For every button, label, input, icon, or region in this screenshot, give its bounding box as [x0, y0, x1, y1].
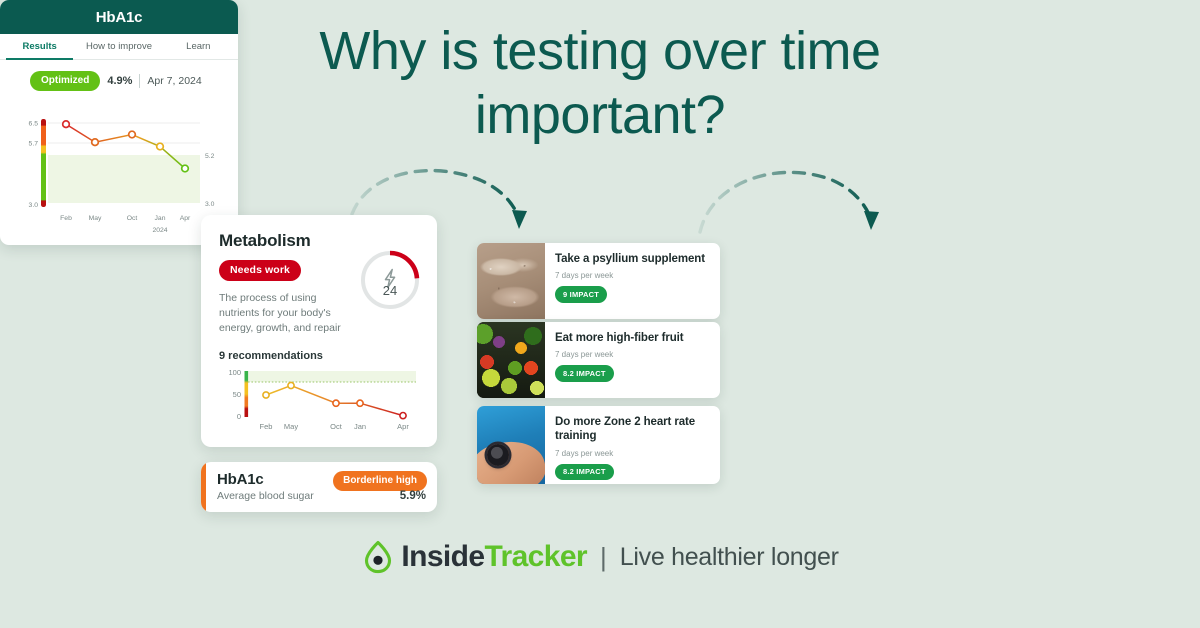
- hba1c-xtick-3: Jan: [155, 215, 166, 222]
- metabolism-title: Metabolism: [219, 231, 419, 251]
- panel-tab-bar[interactable]: Results How to improve Learn: [0, 34, 238, 60]
- hba1c-ytick-left-3-0: 3.0: [29, 202, 39, 209]
- metabolism-score-value: 24: [359, 283, 421, 298]
- hba1c-xtick-2: Oct: [127, 215, 138, 222]
- status-badge-borderline-high: Borderline high: [333, 471, 427, 491]
- recommendation-title: Do more Zone 2 heart rate training: [555, 415, 712, 444]
- hba1c-trend-chart: 6.5 5.7 3.0 5.2 3.0 Feb May Oct Jan Apr …: [8, 105, 230, 237]
- hba1c-summary-subtitle: Average blood sugar: [217, 490, 425, 502]
- hba1c-ytick-right-5-2: 5.2: [205, 153, 215, 160]
- recommendation-card[interactable]: Do more Zone 2 heart rate training 7 day…: [477, 406, 720, 484]
- recommendation-title: Eat more high-fiber fruit: [555, 331, 712, 345]
- impact-badge: 8.2 IMPACT: [555, 464, 614, 481]
- recommendation-title: Take a psyllium supplement: [555, 252, 712, 266]
- impact-badge: 9 IMPACT: [555, 286, 607, 303]
- logo-text-inside: Inside: [401, 540, 484, 574]
- logo-divider: |: [600, 542, 607, 573]
- tab-learn[interactable]: Learn: [159, 34, 238, 59]
- tab-learn-label: Learn: [186, 41, 210, 52]
- arrow-recommendations-to-hba1c: [700, 172, 879, 232]
- hba1c-summary-value: 5.9%: [400, 490, 426, 502]
- tab-how-to-improve-label: How to improve: [86, 41, 152, 52]
- hba1c-xtick-0: Feb: [60, 215, 72, 222]
- metab-ytick-0: 0: [237, 412, 241, 421]
- hba1c-ytick-left-6-5: 6.5: [29, 121, 39, 128]
- hba1c-xtick-1: May: [89, 215, 102, 222]
- tab-results-label: Results: [23, 41, 57, 52]
- metab-xtick-2: Oct: [330, 422, 343, 431]
- metabolism-card[interactable]: Metabolism Needs work The process of usi…: [201, 215, 437, 447]
- metab-ytick-100: 100: [228, 368, 241, 377]
- logo-text-tracker: Tracker: [484, 540, 587, 574]
- tab-results[interactable]: Results: [0, 34, 79, 59]
- poster-canvas: Why is testing over time important?: [0, 0, 1200, 628]
- metab-xtick-4: Apr: [397, 422, 409, 431]
- headline-line-1: Why is testing over time: [319, 21, 880, 81]
- metab-xtick-0: Feb: [260, 422, 273, 431]
- psyllium-bowl-image: [477, 243, 545, 319]
- brand-footer: Inside Tracker | Live healthier longer: [0, 540, 1200, 574]
- metabolism-description: The process of using nutrients for your …: [219, 291, 344, 337]
- metabolism-score-gauge: [359, 249, 421, 311]
- tab-how-to-improve[interactable]: How to improve: [79, 34, 158, 59]
- impact-badge: 8.2 IMPACT: [555, 365, 614, 382]
- hba1c-summary-card[interactable]: HbA1c Average blood sugar Borderline hig…: [201, 462, 437, 512]
- metabolism-trend-chart: 100 50 0 Feb May Oct Jan Apr: [219, 367, 419, 439]
- hba1c-ytick-left-5-7: 5.7: [29, 141, 39, 148]
- metabolism-recommendations-count[interactable]: 9 recommendations: [219, 350, 419, 362]
- metab-xtick-1: May: [284, 422, 298, 431]
- vegetables-image: [477, 322, 545, 398]
- brand-tagline: Live healthier longer: [620, 543, 839, 572]
- status-badge-needs-work: Needs work: [219, 260, 301, 281]
- recommendation-card[interactable]: Take a psyllium supplement 7 days per we…: [477, 243, 720, 319]
- recommendation-frequency: 7 days per week: [555, 350, 712, 359]
- metab-ytick-50: 50: [233, 390, 241, 399]
- hba1c-ytick-right-3-0: 3.0: [205, 201, 215, 208]
- recommendation-card[interactable]: Eat more high-fiber fruit 7 days per wee…: [477, 322, 720, 398]
- droplet-logo-icon: [361, 540, 395, 574]
- recommendation-frequency: 7 days per week: [555, 449, 712, 458]
- hba1c-detail-panel[interactable]: HbA1c Results How to improve Learn Optim…: [0, 0, 238, 245]
- smartwatch-image: [477, 406, 545, 484]
- recommendation-frequency: 7 days per week: [555, 271, 712, 280]
- hba1c-xtick-4: Apr: [180, 215, 191, 222]
- hba1c-year-label: 2024: [152, 227, 167, 234]
- metab-xtick-3: Jan: [354, 422, 366, 431]
